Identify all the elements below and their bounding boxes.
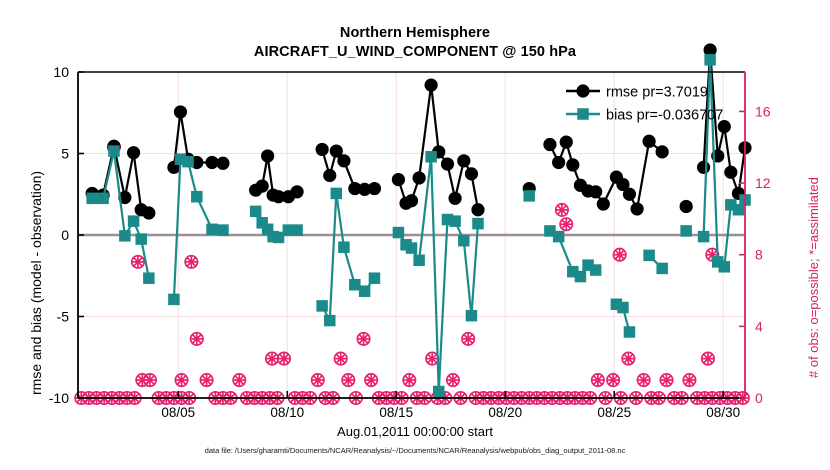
data-point-marker xyxy=(316,143,329,156)
data-point-marker xyxy=(656,263,668,275)
y-tick-label-left: 0 xyxy=(61,227,69,243)
data-point-marker xyxy=(680,225,692,237)
data-point-marker xyxy=(458,235,470,247)
data-point-marker xyxy=(472,218,484,230)
series-connector xyxy=(637,141,649,209)
data-point-marker xyxy=(413,255,425,267)
obs-marker xyxy=(592,374,604,386)
data-point-marker xyxy=(590,264,602,276)
series-connector xyxy=(174,159,181,299)
data-point-marker xyxy=(331,188,343,200)
series-connector xyxy=(431,85,439,152)
data-point-marker xyxy=(449,215,461,227)
y-tick-label-right: 4 xyxy=(755,318,763,334)
data-point-marker xyxy=(523,190,535,202)
data-point-marker xyxy=(425,78,438,91)
x-tick-label: 08/15 xyxy=(379,405,413,420)
data-point-marker xyxy=(406,242,418,254)
data-point-marker xyxy=(119,230,131,242)
figure-root: Northern Hemisphere AIRCRAFT_U_WIND_COMP… xyxy=(0,0,830,470)
obs-marker xyxy=(462,333,474,345)
obs-marker xyxy=(683,374,695,386)
obs-marker xyxy=(312,374,324,386)
data-point-marker xyxy=(337,154,350,167)
obs-marker xyxy=(191,333,203,345)
data-point-marker xyxy=(316,300,328,312)
data-point-marker xyxy=(466,310,478,322)
data-point-marker xyxy=(698,231,710,243)
data-point-marker xyxy=(291,224,303,236)
series-connector xyxy=(738,148,745,194)
obs-marker xyxy=(185,256,197,268)
data-point-marker xyxy=(217,224,229,236)
data-point-marker xyxy=(552,156,565,169)
data-point-marker xyxy=(369,272,381,284)
x-tick-label: 08/10 xyxy=(270,405,304,420)
obs-marker xyxy=(702,352,714,364)
series-connector xyxy=(439,220,448,392)
obs-marker xyxy=(266,352,278,364)
series-bias xyxy=(86,54,750,397)
obs-marker xyxy=(622,352,634,364)
legend-marker-bias xyxy=(577,108,589,120)
data-point-marker xyxy=(448,192,461,205)
obs-marker xyxy=(175,374,187,386)
data-point-marker xyxy=(680,200,693,213)
data-point-marker xyxy=(97,193,109,205)
data-point-marker xyxy=(206,224,218,236)
data-point-marker xyxy=(433,386,445,398)
x-tick-label: 08/30 xyxy=(706,405,740,420)
obs-marker xyxy=(357,333,369,345)
data-point-marker xyxy=(393,227,405,239)
data-point-marker xyxy=(405,194,418,207)
data-point-marker xyxy=(697,161,710,174)
data-point-marker xyxy=(704,54,716,66)
series-connector xyxy=(134,153,142,210)
y-tick-label-right: 12 xyxy=(755,175,771,191)
data-point-marker xyxy=(656,145,669,158)
data-point-marker xyxy=(273,232,285,244)
legend-label-bias: bias pr=-0.036707 xyxy=(606,108,723,124)
y-tick-label-right: 0 xyxy=(755,390,763,406)
data-point-marker xyxy=(642,135,655,148)
data-point-marker xyxy=(413,171,426,184)
obs-marker xyxy=(613,249,625,261)
data-point-marker xyxy=(143,272,155,284)
data-point-marker xyxy=(168,294,180,306)
obs-marker xyxy=(637,374,649,386)
chart-plot-area: -10-50510048121608/0508/1008/1508/2008/2… xyxy=(0,0,830,470)
obs-marker xyxy=(200,374,212,386)
x-tick-label: 08/05 xyxy=(161,405,195,420)
obs-marker xyxy=(233,374,245,386)
data-point-marker xyxy=(261,149,274,162)
data-point-marker xyxy=(631,202,644,215)
data-point-marker xyxy=(135,233,147,245)
y-tick-label-left: -10 xyxy=(49,390,69,406)
y-tick-label-right: 16 xyxy=(755,103,771,119)
data-point-marker xyxy=(191,191,203,203)
series-connector xyxy=(125,153,134,198)
obs-marker xyxy=(607,374,619,386)
obs-marker xyxy=(447,374,459,386)
legend-marker-rmse xyxy=(576,84,589,97)
data-point-marker xyxy=(127,146,140,159)
y-tick-label-left: 5 xyxy=(61,146,69,162)
data-point-marker xyxy=(441,157,454,170)
obs-marker xyxy=(342,374,354,386)
data-point-marker xyxy=(543,138,556,151)
chart-legend: rmse pr=3.7019bias pr=-0.036707 xyxy=(566,84,723,123)
y-tick-label-left: 10 xyxy=(53,64,69,80)
data-point-marker xyxy=(624,326,636,338)
data-point-marker xyxy=(643,250,655,262)
obs-marker xyxy=(144,374,156,386)
data-point-marker xyxy=(575,271,587,283)
data-point-marker xyxy=(465,167,478,180)
obs-marker xyxy=(556,204,568,216)
data-point-marker xyxy=(174,105,187,118)
data-point-marker xyxy=(349,279,361,291)
data-point-marker xyxy=(256,180,269,193)
obs-marker xyxy=(365,374,377,386)
obs-marker xyxy=(403,374,415,386)
obs-marker xyxy=(132,256,144,268)
series-connector xyxy=(724,127,731,173)
data-point-marker xyxy=(425,151,437,163)
data-point-marker xyxy=(128,215,140,227)
data-point-marker xyxy=(290,185,303,198)
obs-marker xyxy=(278,352,290,364)
obs-marker xyxy=(660,374,672,386)
data-point-marker xyxy=(182,156,194,168)
data-point-marker xyxy=(250,206,261,218)
data-point-marker xyxy=(623,188,636,201)
series-rmse xyxy=(86,43,752,219)
data-point-marker xyxy=(617,302,629,314)
series-connector xyxy=(180,112,188,159)
data-point-marker xyxy=(338,241,350,253)
data-point-marker xyxy=(589,185,602,198)
data-point-marker xyxy=(142,206,155,219)
series-connector xyxy=(103,151,114,198)
data-point-marker xyxy=(323,169,336,182)
obs-marker xyxy=(560,218,572,230)
series-connector xyxy=(464,241,472,316)
data-point-marker xyxy=(216,157,229,170)
data-point-marker xyxy=(368,182,381,195)
data-point-marker xyxy=(597,197,610,210)
data-point-marker xyxy=(324,315,336,327)
series-connector xyxy=(330,193,337,320)
data-point-marker xyxy=(719,261,731,273)
data-point-marker xyxy=(471,203,484,216)
data-point-marker xyxy=(560,135,573,148)
data-point-marker xyxy=(86,193,98,205)
data-point-marker xyxy=(553,231,565,243)
x-tick-label: 08/20 xyxy=(488,405,522,420)
series-connector xyxy=(336,193,344,247)
y-tick-label-left: -5 xyxy=(57,309,70,325)
y-tick-label-right: 8 xyxy=(755,247,763,263)
data-point-marker xyxy=(108,145,120,157)
obs-marker xyxy=(334,352,346,364)
data-point-marker xyxy=(457,154,470,167)
data-point-marker xyxy=(392,173,405,186)
data-point-marker xyxy=(724,166,737,179)
x-tick-label: 08/25 xyxy=(597,405,631,420)
data-point-marker xyxy=(733,204,745,216)
series-connector xyxy=(471,224,478,316)
data-point-marker xyxy=(359,285,371,297)
legend-label-rmse: rmse pr=3.7019 xyxy=(606,85,708,101)
data-point-marker xyxy=(566,158,579,171)
